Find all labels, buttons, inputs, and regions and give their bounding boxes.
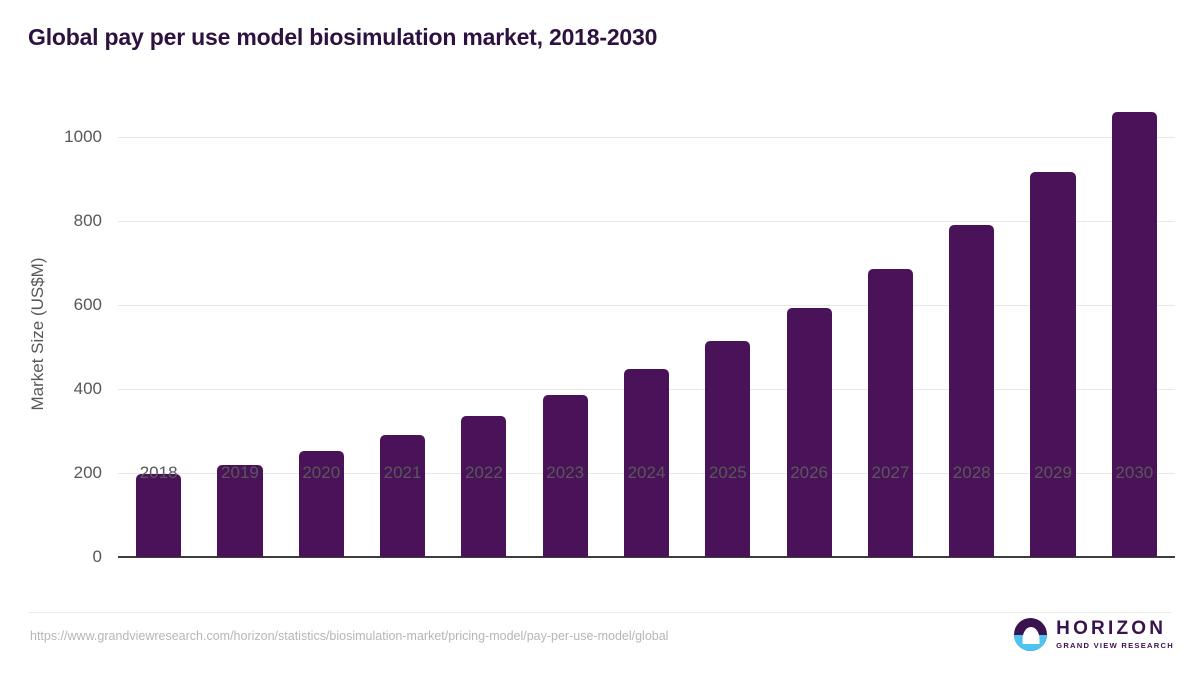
x-tick-label: 2026 [790, 463, 828, 483]
source-url[interactable]: https://www.grandviewresearch.com/horizo… [30, 629, 668, 643]
x-tick-label: 2020 [302, 463, 340, 483]
x-tick-label: 2024 [628, 463, 666, 483]
y-tick-label: 600 [6, 295, 102, 315]
gridline [118, 305, 1175, 306]
horizon-logo[interactable]: HORIZON GRAND VIEW RESEARCH [1014, 618, 1174, 651]
x-tick-label: 2028 [953, 463, 991, 483]
bar[interactable] [136, 474, 181, 557]
bar[interactable] [1112, 112, 1157, 557]
y-tick-label: 0 [6, 547, 102, 567]
horizon-sun-circle-icon [1014, 618, 1047, 651]
gridline [118, 221, 1175, 222]
logo-wordmark: HORIZON [1056, 619, 1174, 638]
footer-divider [28, 612, 1172, 613]
bar[interactable] [461, 416, 506, 557]
x-tick-label: 2025 [709, 463, 747, 483]
x-tick-label: 2018 [140, 463, 178, 483]
bar[interactable] [787, 308, 832, 557]
chart-page: Global pay per use model biosimulation m… [0, 0, 1200, 675]
x-tick-label: 2023 [546, 463, 584, 483]
bar[interactable] [380, 435, 425, 557]
y-tick-label: 400 [6, 379, 102, 399]
bar[interactable] [1030, 172, 1075, 557]
x-tick-label: 2030 [1115, 463, 1153, 483]
bar[interactable] [705, 341, 750, 557]
chart-canvas: Market Size (US$M) 02004006008001000 201… [0, 0, 1200, 675]
bar[interactable] [949, 225, 994, 557]
y-tick-label: 1000 [6, 127, 102, 147]
gridline [118, 137, 1175, 138]
y-tick-label: 800 [6, 211, 102, 231]
x-tick-label: 2021 [384, 463, 422, 483]
x-tick-label: 2022 [465, 463, 503, 483]
x-tick-label: 2029 [1034, 463, 1072, 483]
bar[interactable] [868, 269, 913, 557]
x-tick-label: 2019 [221, 463, 259, 483]
x-tick-label: 2027 [872, 463, 910, 483]
logo-tagline: GRAND VIEW RESEARCH [1056, 642, 1174, 650]
plot-area [118, 110, 1175, 557]
y-tick-label: 200 [6, 463, 102, 483]
